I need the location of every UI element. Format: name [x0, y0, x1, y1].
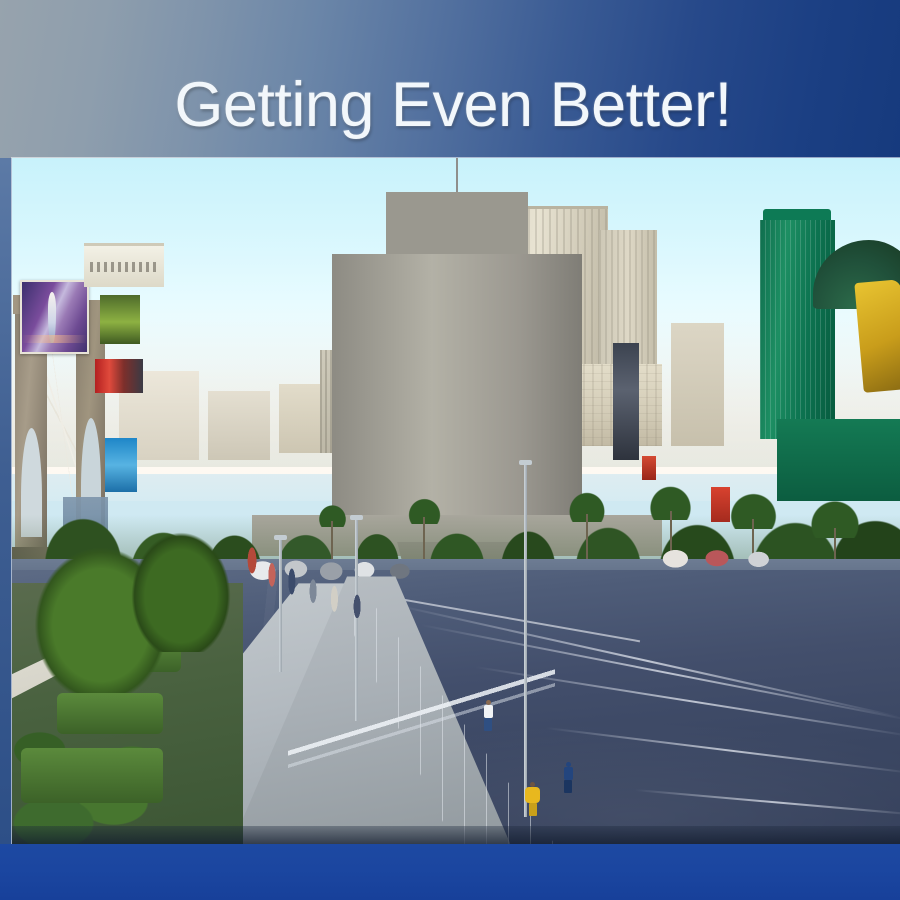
pedestrian-legs	[529, 803, 537, 816]
page-title: Getting Even Better!	[0, 74, 900, 136]
photo-bottom-shadow	[12, 826, 900, 844]
pedestrian-torso	[484, 705, 493, 718]
pedestrian-legs	[564, 780, 572, 793]
red-signboard	[95, 359, 143, 394]
pedestrian-torso	[564, 767, 573, 780]
street-lamp	[524, 460, 527, 817]
hedge	[57, 693, 164, 734]
traffic-sign	[711, 487, 731, 521]
billboard	[20, 280, 89, 354]
casino-marquee-sign	[84, 243, 164, 287]
shade-tree-2	[128, 528, 235, 651]
mgm-grand-tower	[760, 220, 836, 440]
presentation-slide: Getting Even Better!	[0, 0, 900, 900]
roadside-billboard-structure	[613, 343, 640, 460]
las-vegas-strip-photo	[12, 158, 900, 844]
green-signboard	[100, 295, 140, 344]
blue-signboard	[105, 438, 137, 492]
hedge	[21, 748, 163, 803]
hotel-block-right	[671, 323, 724, 446]
distant-traffic-right	[653, 542, 813, 569]
eiffel-shaft	[332, 254, 581, 528]
title-band: Getting Even Better!	[0, 0, 900, 158]
bottom-accent-band	[0, 844, 900, 900]
mgm-lower-wing	[777, 419, 900, 501]
billboard-glow	[22, 335, 87, 343]
traffic-sign-small	[642, 456, 656, 479]
pedestrian-legs	[484, 718, 492, 731]
pedestrian-head	[566, 762, 571, 767]
slide-photo-frame	[12, 158, 900, 844]
pedestrian-torso	[525, 787, 540, 803]
pedestrian-crowd	[235, 522, 377, 618]
left-accent-strip	[0, 158, 12, 844]
